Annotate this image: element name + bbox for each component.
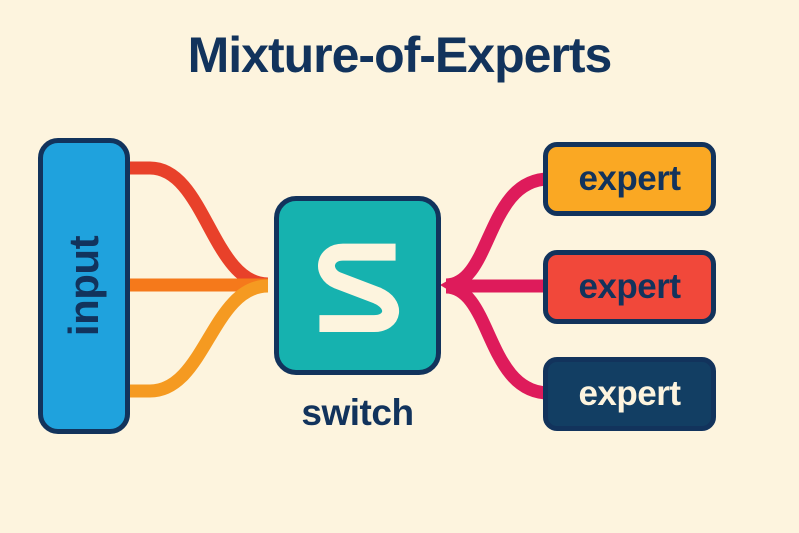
node-expert-3-label: expert [578,374,680,414]
edge-switch-expert-3 [446,287,549,393]
edge-convergence-wedge [440,268,470,303]
diagram-canvas: Mixture-of-Experts input switch expert e… [0,0,799,533]
node-expert-1[interactable]: expert [543,142,716,216]
node-expert-2-label: expert [578,267,680,307]
node-input[interactable]: input [38,138,130,434]
switch-s-glyph [279,201,436,370]
edge-input-switch-bottom [126,286,268,391]
edge-input-switch-top [126,168,268,284]
edge-switch-expert-1 [446,179,549,285]
node-expert-1-label: expert [578,159,680,199]
node-input-label: input [60,236,108,336]
node-expert-3[interactable]: expert [543,357,716,431]
node-switch[interactable] [274,196,441,375]
node-switch-caption: switch [274,392,441,434]
node-expert-2[interactable]: expert [543,250,716,324]
page-title: Mixture-of-Experts [0,26,799,84]
